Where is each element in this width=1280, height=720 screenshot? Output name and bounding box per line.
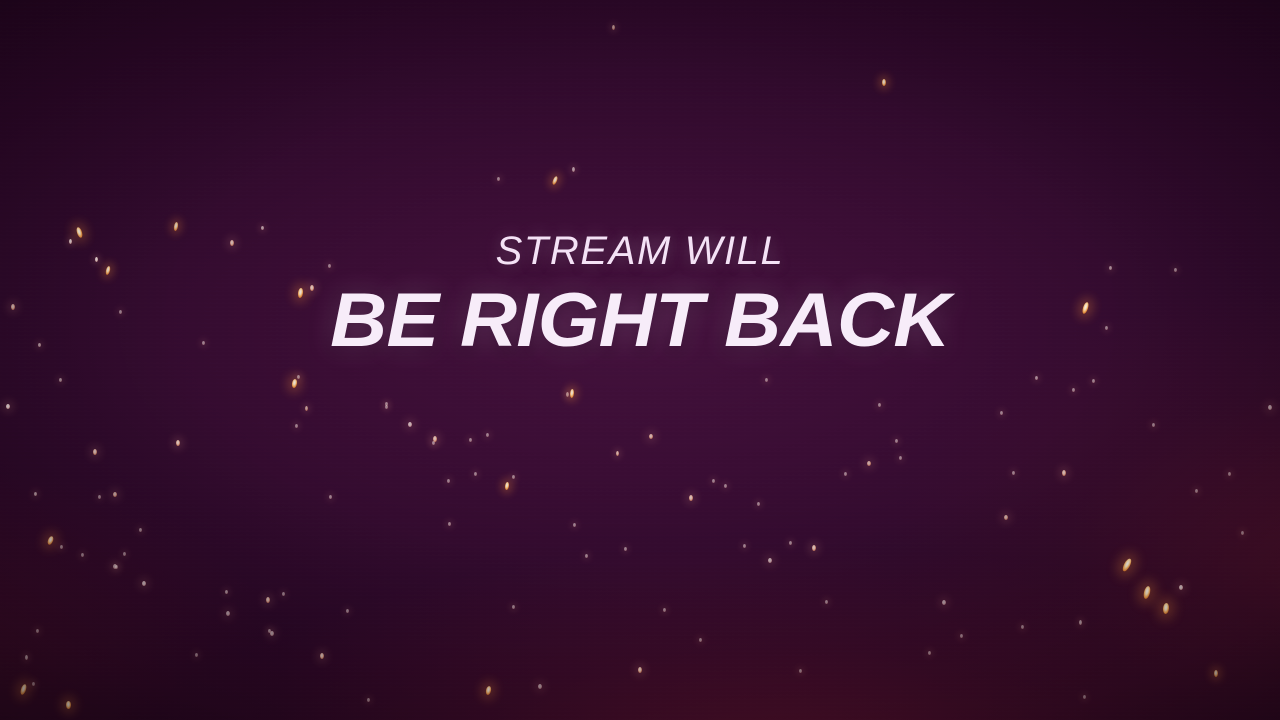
overlay-headline-text: BE RIGHT BACK: [0, 283, 1280, 359]
overlay-kicker-text: STREAM WILL: [0, 231, 1280, 271]
overlay-title-block: STREAM WILL BE RIGHT BACK: [0, 231, 1280, 359]
stream-offline-screen: STREAM WILL BE RIGHT BACK: [0, 0, 1280, 720]
